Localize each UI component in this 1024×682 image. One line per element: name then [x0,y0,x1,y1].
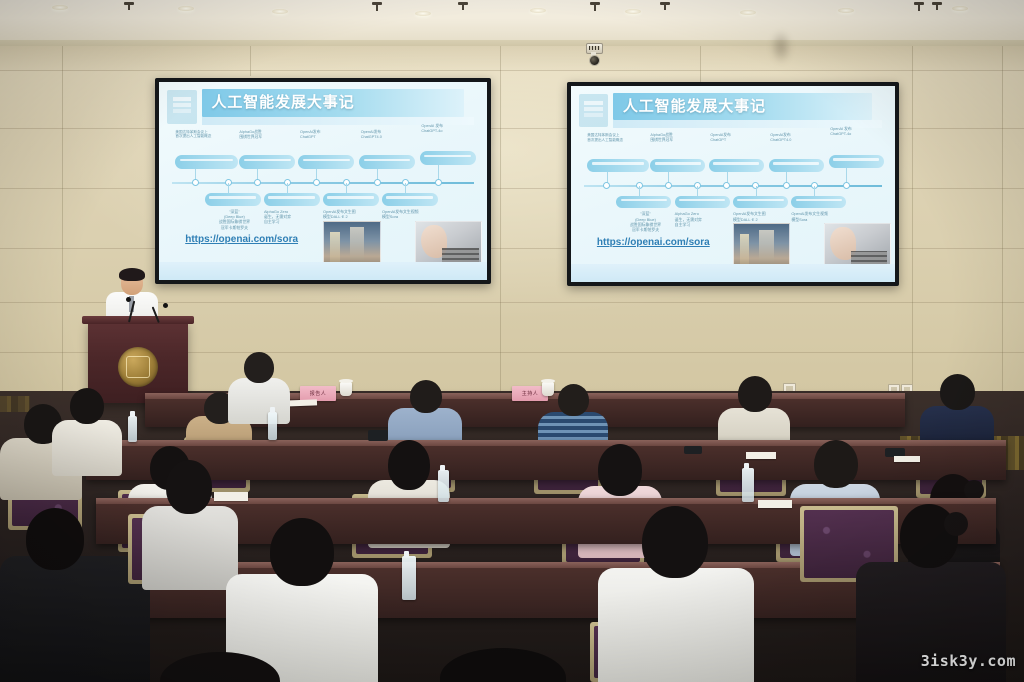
water-bottle [438,470,449,502]
timeline-node [723,182,730,189]
slide-title: 人工智能发展大事记 [211,91,354,112]
name-placard[interactable]: 报告人 [300,386,336,401]
camera-lens [589,55,600,66]
water-bottle [268,412,277,440]
timeline-bottom-caption: OpenAI发布文生视频 模型Sora [382,209,444,220]
timeline-bottom-pill [675,196,730,209]
ceiling-downlight [952,6,968,11]
timeline-bottom-caption: OpenAI发布文生视频 模型Sora [791,211,853,222]
slide-footer [571,264,895,282]
timeline-top-caption: 美国达特茅斯会议上 首次提出人工智能概念 [587,133,652,143]
attendee-dark-hair-left [52,388,122,472]
timeline-top-caption: 美国达特茅斯会议上 首次提出人工智能概念 [175,130,241,140]
ceiling-fixture-stem [936,2,938,10]
wall-panel-seam [250,46,251,76]
timeline-axis [172,182,474,184]
mobile-phone[interactable] [684,446,702,454]
slide-title: 人工智能发展大事记 [623,95,766,116]
timeline-bottom-pill [733,196,788,209]
timeline-top-pill [298,155,354,169]
attendee-head [166,460,212,514]
display-left: 人工智能发展大事记 美国达特茅斯会议上 首次提出人工智能概念 AlphaGo战胜… [155,78,491,284]
wall-panel-seam [1002,46,1003,391]
microphone-head [163,303,168,308]
wall-panel-seam [62,46,63,391]
timeline-top-pill [769,159,824,173]
attendee-head [160,652,280,682]
timeline-node [783,182,790,189]
slide-url[interactable]: https://openai.com/sora [185,234,298,245]
camera-grill [589,46,600,50]
attendee-head [270,518,334,586]
timeline-bottom-caption: OpenAI发布文生图 模型DALL·E 2 [323,209,385,220]
attendee-head [814,440,858,488]
attendee-hair-bun [944,512,968,536]
attendee-head [244,352,274,383]
timeline-node [254,179,261,186]
document-sheet [894,456,920,462]
slide-right: 人工智能发展大事记 美国达特茅斯会议上 首次提出人工智能概念 AlphaGo战胜… [571,86,895,282]
attendee-head [598,444,642,496]
timeline-bottom-caption: AlphaGo Zero 诞生，无需对弈 自主学习 [264,209,323,225]
slide-logo [579,94,608,127]
attendee-partial-bottom-left [160,652,280,682]
ceiling-downlight [740,10,756,15]
timeline-bottom-pill [791,196,846,209]
timeline-top-caption: OpenAI 发布 ChatGPT-4o [421,124,477,134]
timeline-bottom-caption: OpenAI发布文生图 模型DALL·E 2 [733,211,795,222]
attendee-head [738,376,772,412]
timeline-axis [584,185,882,187]
attendee-head [440,648,566,682]
attendee-head [70,388,104,424]
timeline-bottom-caption: "深蓝" (Deep Blue) 战胜国际象棋世界 冠军卡斯帕罗夫 [615,211,677,232]
timeline-bottom-caption: "深蓝" (Deep Blue) 战胜国际象棋世界 冠军卡斯帕罗夫 [203,209,265,230]
water-bottle [402,556,416,600]
wall-panel-seam [700,46,701,86]
attendee-head [642,506,708,578]
timeline-bottom-pill [323,193,379,206]
wall-panel-seam [912,46,913,391]
watermark: 3isk3y.com [921,652,1016,670]
timeline-top-pill [829,155,884,169]
timeline-top-pill [359,155,415,169]
placard-text: 报告人 [310,390,327,397]
ceiling-downlight [178,6,194,11]
ceiling-fixture-stem [462,2,464,10]
attendee-torso [598,568,754,682]
document-sheet [746,452,776,459]
timeline-top-pill [175,155,237,169]
timeline-top-caption: OpenAI 发布 ChatGPT-4o [830,127,885,137]
document-sheet [758,500,792,508]
timeline-top-pill [650,159,705,173]
attendee-head [26,508,84,570]
tea-cup [340,382,352,396]
attendee-head [558,384,589,416]
timeline-top-caption: OpenAI发布 ChatGPT [710,133,765,143]
attendee-torso [142,506,238,590]
attendee-head [940,374,975,410]
timeline-bottom-pill [264,193,320,206]
wall-upper-shade [0,46,1024,72]
attendee-white-tshirt [598,506,754,682]
ceiling-downlight [838,8,854,13]
slide-url[interactable]: https://openai.com/sora [597,237,710,248]
timeline-bottom-pill [205,193,261,206]
timeline-top-pill [239,155,295,169]
attendee-hair-bun [964,480,984,500]
microphone-head [126,297,131,302]
ceiling-downlight [415,11,431,16]
timeline-node [435,179,442,186]
timeline-top-caption: AlphaGo战胜 围棋世界冠军 [239,130,298,140]
conference-hall-photo: 人工智能发展大事记 美国达特茅斯会议上 首次提出人工智能概念 AlphaGo战胜… [0,0,1024,682]
wall-shadow-mark [770,30,792,64]
ceiling-fixture-stem [664,2,666,10]
display-right: 人工智能发展大事记 美国达特茅斯会议上 首次提出人工智能概念 AlphaGo战胜… [567,82,899,286]
attendee-partial-bottom-center [440,648,566,682]
attendee-head [410,380,442,413]
slide-logo [167,90,197,124]
water-bottle [128,416,137,442]
ceiling-downlight [272,9,288,14]
timeline-node [665,182,672,189]
institution-emblem [118,347,158,387]
attendee-grey-shawl [142,460,238,588]
timeline-node [374,179,381,186]
timeline-top-caption: OpenAI发布 ChatGPT4.0 [361,130,417,140]
ceiling-fixture-stem [594,2,596,11]
attendee-white-shirt [228,352,290,416]
ceiling-downlight [52,5,68,10]
ceiling-downlight [625,9,641,14]
timeline-bottom-caption: AlphaGo Zero 诞生，无需对弈 自主学习 [675,211,733,227]
wall-panel-seam [0,70,1024,71]
water-bottle [742,468,754,502]
ceiling-fixture-stem [128,2,130,10]
wall-camera-icon [586,43,601,65]
timeline-node [603,182,610,189]
attendee-torso [228,378,290,424]
timeline-node [192,179,199,186]
timeline-top-pill [587,159,649,173]
ceiling-downlight [530,8,546,13]
ceiling-fixture-stem [918,2,920,11]
timeline-top-caption: AlphaGo战胜 围棋世界冠军 [650,133,708,143]
placard-text: 主持人 [522,390,539,397]
attendee-torso [52,420,122,476]
timeline-bottom-pill [616,196,671,209]
timeline-top-pill [709,159,764,173]
timeline-bottom-pill [382,193,438,206]
slide-footer [159,262,487,280]
timeline-node [313,179,320,186]
wall-panel-seam [500,46,501,391]
ceiling-fixture-stem [376,2,378,11]
timeline-node [843,182,850,189]
timeline-top-pill [420,151,476,165]
slide-left: 人工智能发展大事记 美国达特茅斯会议上 首次提出人工智能概念 AlphaGo战胜… [159,82,487,280]
podium-top [82,316,194,324]
timeline-top-caption: OpenAI发布 ChatGPT4.0 [770,133,825,143]
presenter-hair [119,268,145,281]
attendee-head [388,440,430,490]
timeline-top-caption: OpenAI发布 ChatGPT [300,130,356,140]
